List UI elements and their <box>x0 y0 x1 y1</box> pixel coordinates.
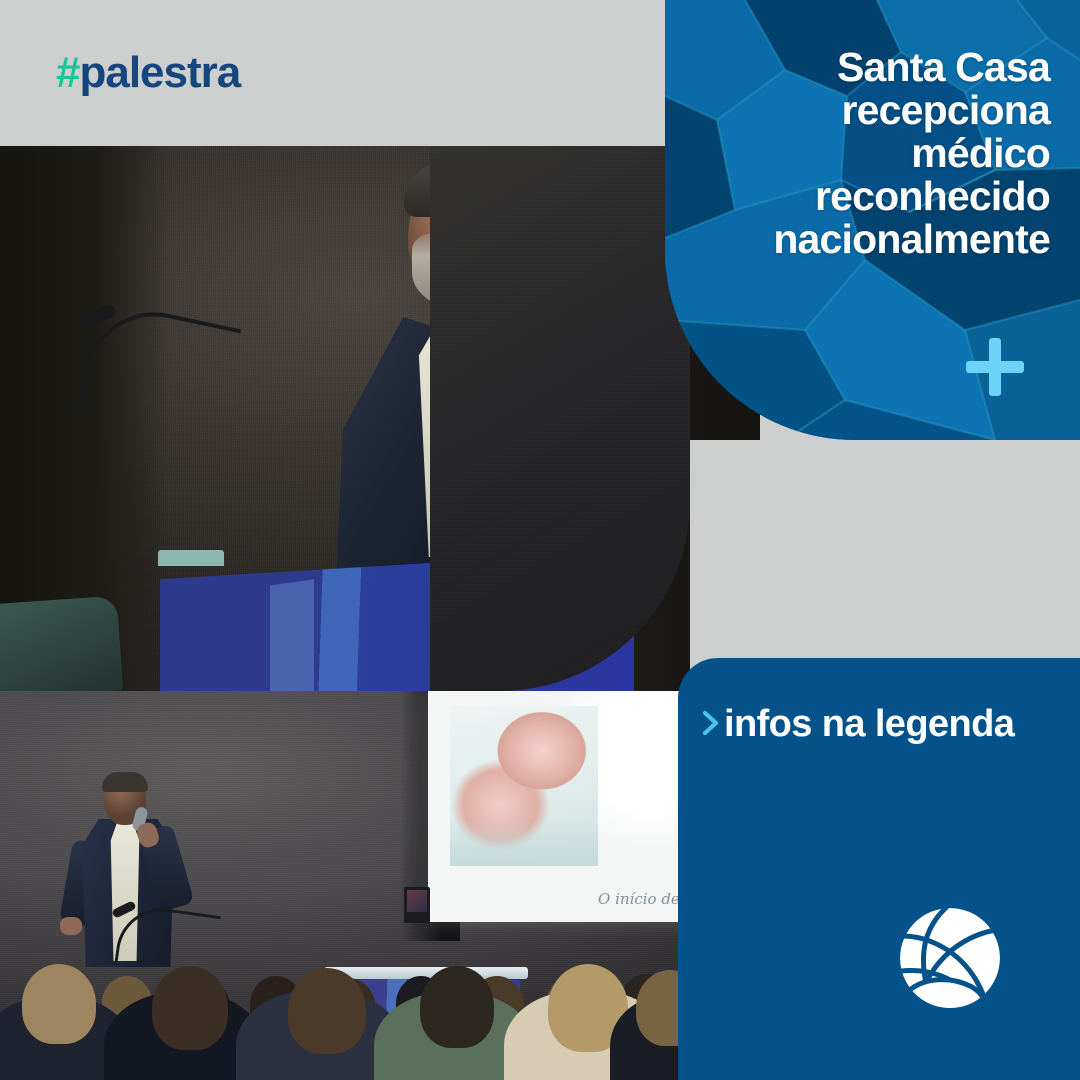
audience-head <box>22 964 96 1044</box>
santa-casa-globe-logo-icon <box>884 896 1016 1028</box>
cta-panel[interactable]: infos na legenda <box>678 658 1080 1080</box>
audience-head <box>420 966 494 1048</box>
audience-rows <box>0 910 690 1080</box>
hash-symbol-icon: # <box>56 48 79 97</box>
header-band: #palestra <box>0 0 667 146</box>
cta-label: infos na legenda <box>724 702 1044 746</box>
chair-back <box>0 596 123 691</box>
grey-right-panel <box>690 440 1080 695</box>
slide-photo-baby-hands <box>450 706 598 866</box>
hashtag-label: #palestra <box>56 50 240 96</box>
social-media-poster: unifev CENTRO UNIVERSITÁRIO DE VOTUPORAN… <box>0 0 1080 1080</box>
projection-screen: O início de v <box>428 691 690 922</box>
photo-extension-block <box>430 145 690 691</box>
audience-head <box>152 966 228 1050</box>
chevron-right-icon <box>702 710 722 736</box>
standing-speaker-hair <box>102 772 148 792</box>
plus-icon <box>966 338 1024 396</box>
slide-caption: O início de v <box>598 890 690 908</box>
title-panel: Santa Casa recepciona médico reconhecido… <box>665 0 1080 440</box>
audience-head <box>288 968 366 1054</box>
photo-audience-and-screen: O início de v unifev Santa Casa <box>0 691 690 1080</box>
hashtag-word: palestra <box>79 48 240 97</box>
podium-highlight-band <box>270 561 314 691</box>
page-title: Santa Casa recepciona médico reconhecido… <box>700 46 1050 261</box>
